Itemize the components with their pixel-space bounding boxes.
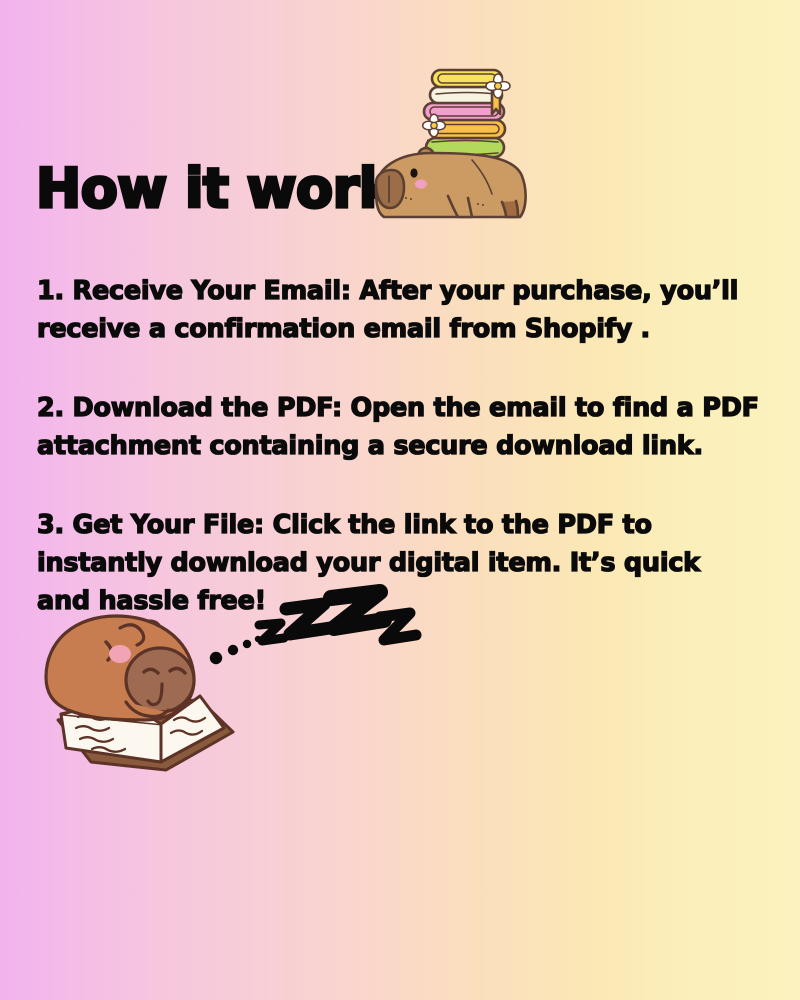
steps-list: 1. Receive Your Email: After your purcha… — [37, 272, 761, 620]
capybara-with-book-stack-illustration — [352, 56, 548, 236]
poster-canvas: How it works — [0, 0, 800, 1000]
snore-zzz-icon — [210, 636, 261, 664]
snore-zzz-letters — [259, 592, 416, 641]
step-item: 1. Receive Your Email: After your purcha… — [37, 272, 761, 348]
capybara-cheek — [415, 179, 427, 188]
step-item: 2. Download the PDF: Open the email to f… — [37, 389, 761, 465]
sleeping-capybara-illustration — [28, 592, 428, 792]
sleeping-capybara-cheek — [109, 645, 131, 663]
capybara-eye-icon — [410, 168, 417, 177]
capybara-muzzle — [376, 170, 404, 208]
